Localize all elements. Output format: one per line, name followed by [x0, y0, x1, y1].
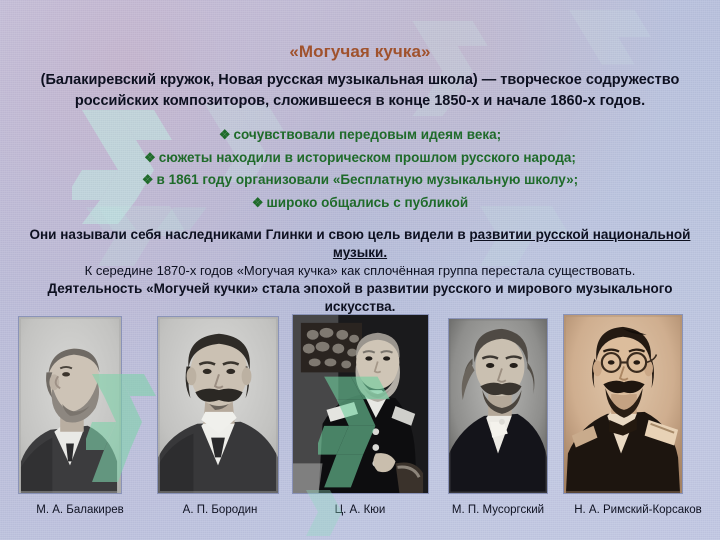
diamond-bullet-icon: ❖ [144, 150, 156, 165]
list-item-label: сочувствовали передовым идеям века; [234, 127, 502, 142]
caption-balakirev: М. А. Балакирев [0, 504, 160, 516]
diamond-bullet-icon: ❖ [219, 127, 231, 142]
caption-rimsky-korsakov: Н. А. Римский-Корсаков [558, 504, 718, 516]
portrait-rimsky-korsakov [563, 314, 683, 494]
portrait-cui [292, 314, 429, 494]
list-item: ❖сочувствовали передовым идеям века; [20, 124, 700, 147]
closing-paragraph-2: К середине 1870-х годов «Могучая кучка» … [24, 262, 696, 279]
portrait-mussorgsky [448, 318, 548, 494]
portrait-captions: М. А. Балакирев А. П. Бородин Ц. А. Кюи … [0, 500, 720, 522]
diamond-bullet-icon: ❖ [142, 172, 154, 187]
caption-borodin: А. П. Бородин [140, 504, 300, 516]
slide-content: «Могучая кучка» (Балакиревский кружок, Н… [0, 0, 720, 540]
lead-paragraph: (Балакиревский кружок, Новая русская муз… [40, 70, 680, 111]
list-item: ❖широко общались с публикой [20, 192, 700, 215]
list-item-label: в 1861 году организовали «Бесплатную муз… [157, 172, 579, 187]
list-item: ❖в 1861 году организовали «Бесплатную му… [20, 169, 700, 192]
portrait-borodin [157, 316, 279, 494]
page-title: «Могучая кучка» [0, 42, 720, 62]
closing-text-block: Они называли себя наследниками Глинки и … [24, 226, 696, 316]
portrait-balakirev [18, 316, 122, 494]
bullet-list: ❖сочувствовали передовым идеям века; ❖сю… [20, 124, 700, 214]
presentation-slide: «Могучая кучка» (Балакиревский кружок, Н… [0, 0, 720, 540]
list-item: ❖сюжеты находили в историческом прошлом … [20, 147, 700, 170]
caption-mussorgsky: М. П. Мусоргский [432, 504, 564, 516]
diamond-bullet-icon: ❖ [252, 195, 264, 210]
portrait-gallery [0, 312, 720, 494]
closing-paragraph-1-prefix: Они называли себя наследниками Глинки и … [30, 227, 470, 242]
list-item-label: сюжеты находили в историческом прошлом р… [159, 150, 576, 165]
closing-paragraph-1: Они называли себя наследниками Глинки и … [24, 226, 696, 262]
closing-paragraph-3: Деятельность «Могучей кучки» стала эпохо… [24, 280, 696, 316]
caption-cui: Ц. А. Кюи [290, 504, 430, 516]
list-item-label: широко общались с публикой [267, 195, 469, 210]
